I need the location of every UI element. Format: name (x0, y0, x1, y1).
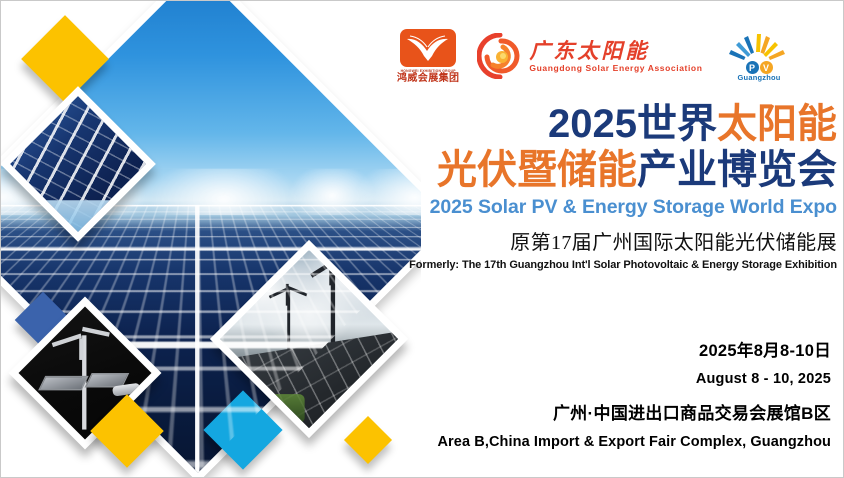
photo-collage (1, 1, 421, 477)
title-english: 2025 Solar PV & Energy Storage World Exp… (397, 196, 837, 219)
event-date-english: August 8 - 10, 2025 (361, 371, 831, 387)
turbine-blade-c (80, 338, 84, 360)
title-line-2: 光伏暨储能产业博览会 (397, 147, 837, 193)
hongwei-exhibition-group-logo: HONGWEI EXHIBITION GROUP 鸿威会展集团 (397, 29, 459, 84)
turbine-blade-a (52, 333, 82, 346)
turbine-blade-1c (329, 259, 333, 286)
solar-panel-left (38, 376, 89, 391)
title-line-1-orange: 太阳能 (717, 102, 837, 146)
pv-guangzhou-label: Guangzhou (738, 73, 781, 82)
gsea-chinese-label: 广东太阳能 (529, 40, 702, 62)
former-name-chinese: 原第17届广州国际太阳能光伏储能展 (397, 226, 837, 255)
gsea-english-label: Guangdong Solar Energy Association (529, 63, 702, 73)
former-name-english: Formerly: The 17th Guangzhou Int'l Solar… (397, 259, 837, 271)
event-date-chinese: 2025年8月8-10日 (361, 337, 831, 361)
hongwei-chinese-label: 鸿威会展集团 (397, 73, 459, 84)
solar-swirl-icon (477, 33, 523, 79)
event-info-block: 2025年8月8-10日 August 8 - 10, 2025 广州·中国进出… (361, 337, 831, 450)
title-line-1: 2025世界太阳能 (397, 101, 837, 147)
title-block: 2025世界太阳能 光伏暨储能产业博览会 2025 Solar PV & Ene… (397, 101, 837, 271)
event-venue-english: Area B,China Import & Export Fair Comple… (361, 434, 831, 450)
guangdong-solar-energy-association-logo: 广东太阳能 Guangdong Solar Energy Association (477, 33, 702, 79)
title-line-1-blue: 2025世界 (548, 102, 717, 146)
title-line-2-orange: 光伏暨储能 (437, 148, 637, 192)
expo-poster: HONGWEI EXHIBITION GROUP 鸿威会展集团 广东太阳能 Gu… (0, 0, 844, 478)
turbine-blade-2c (286, 284, 289, 306)
wings-w-icon (400, 29, 456, 67)
panel-center-aisle (195, 206, 199, 477)
logo-row: HONGWEI EXHIBITION GROUP 鸿威会展集团 广东太阳能 Gu… (397, 25, 837, 87)
pv-guangzhou-logo: P V Guangzhou (721, 30, 793, 82)
event-venue-chinese: 广州·中国进出口商品交易会展馆B区 (361, 399, 831, 424)
title-line-2-blue: 产业博览会 (637, 148, 837, 192)
